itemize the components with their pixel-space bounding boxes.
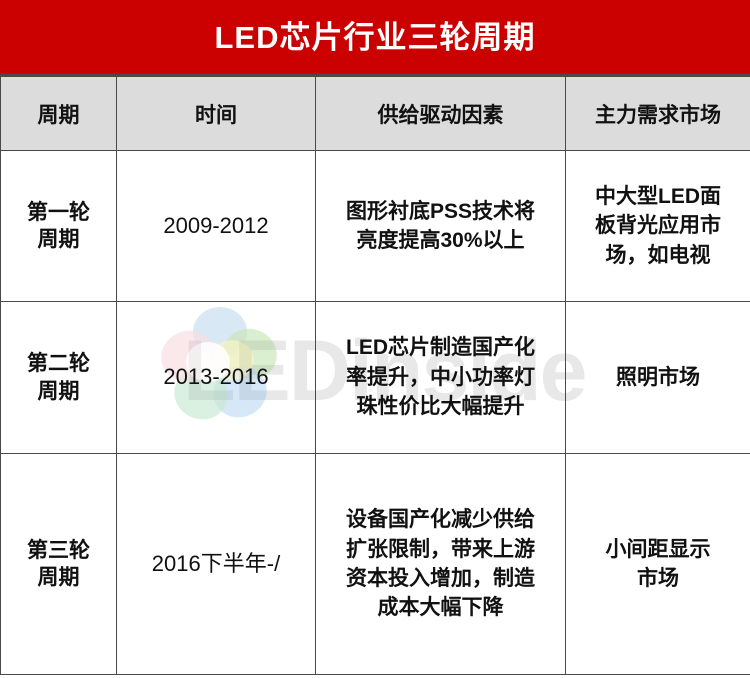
cell-time: 2013-2016	[117, 302, 316, 454]
page-title: LED芯片行业三轮周期	[215, 22, 536, 53]
cell-market: 照明市场	[566, 302, 750, 454]
column-header-market: 主力需求市场	[566, 77, 750, 151]
table-row: 第二轮周期 2013-2016 LED芯片制造国产化率提升，中小功率灯珠性价比大…	[1, 302, 750, 454]
page-title-bar: LED芯片行业三轮周期	[0, 0, 750, 76]
table-header-row: 周期 时间 供给驱动因素 主力需求市场	[1, 77, 750, 151]
column-header-driver: 供给驱动因素	[316, 77, 566, 151]
cell-driver: 图形衬底PSS技术将亮度提高30%以上	[316, 151, 566, 302]
cell-cycle: 第三轮周期	[1, 454, 117, 675]
column-header-cycle: 周期	[1, 77, 117, 151]
cell-market: 小间距显示市场	[566, 454, 750, 675]
table-row: 第三轮周期 2016下半年-/ 设备国产化减少供给扩张限制，带来上游资本投入增加…	[1, 454, 750, 675]
table-sheet: LEDinside LED芯片行业三轮周期 周期 时间 供给驱动因素	[0, 0, 750, 678]
table-row: 第一轮周期 2009-2012 图形衬底PSS技术将亮度提高30%以上 中大型L…	[1, 151, 750, 302]
cell-cycle: 第二轮周期	[1, 302, 117, 454]
cell-cycle: 第一轮周期	[1, 151, 117, 302]
cycles-table: 周期 时间 供给驱动因素 主力需求市场 第一轮周期 2009-2012 图形衬底…	[0, 76, 750, 675]
cell-time: 2016下半年-/	[117, 454, 316, 675]
cell-time: 2009-2012	[117, 151, 316, 302]
cell-driver: LED芯片制造国产化率提升，中小功率灯珠性价比大幅提升	[316, 302, 566, 454]
column-header-time: 时间	[117, 77, 316, 151]
cell-market: 中大型LED面板背光应用市场，如电视	[566, 151, 750, 302]
cell-driver: 设备国产化减少供给扩张限制，带来上游资本投入增加，制造成本大幅下降	[316, 454, 566, 675]
